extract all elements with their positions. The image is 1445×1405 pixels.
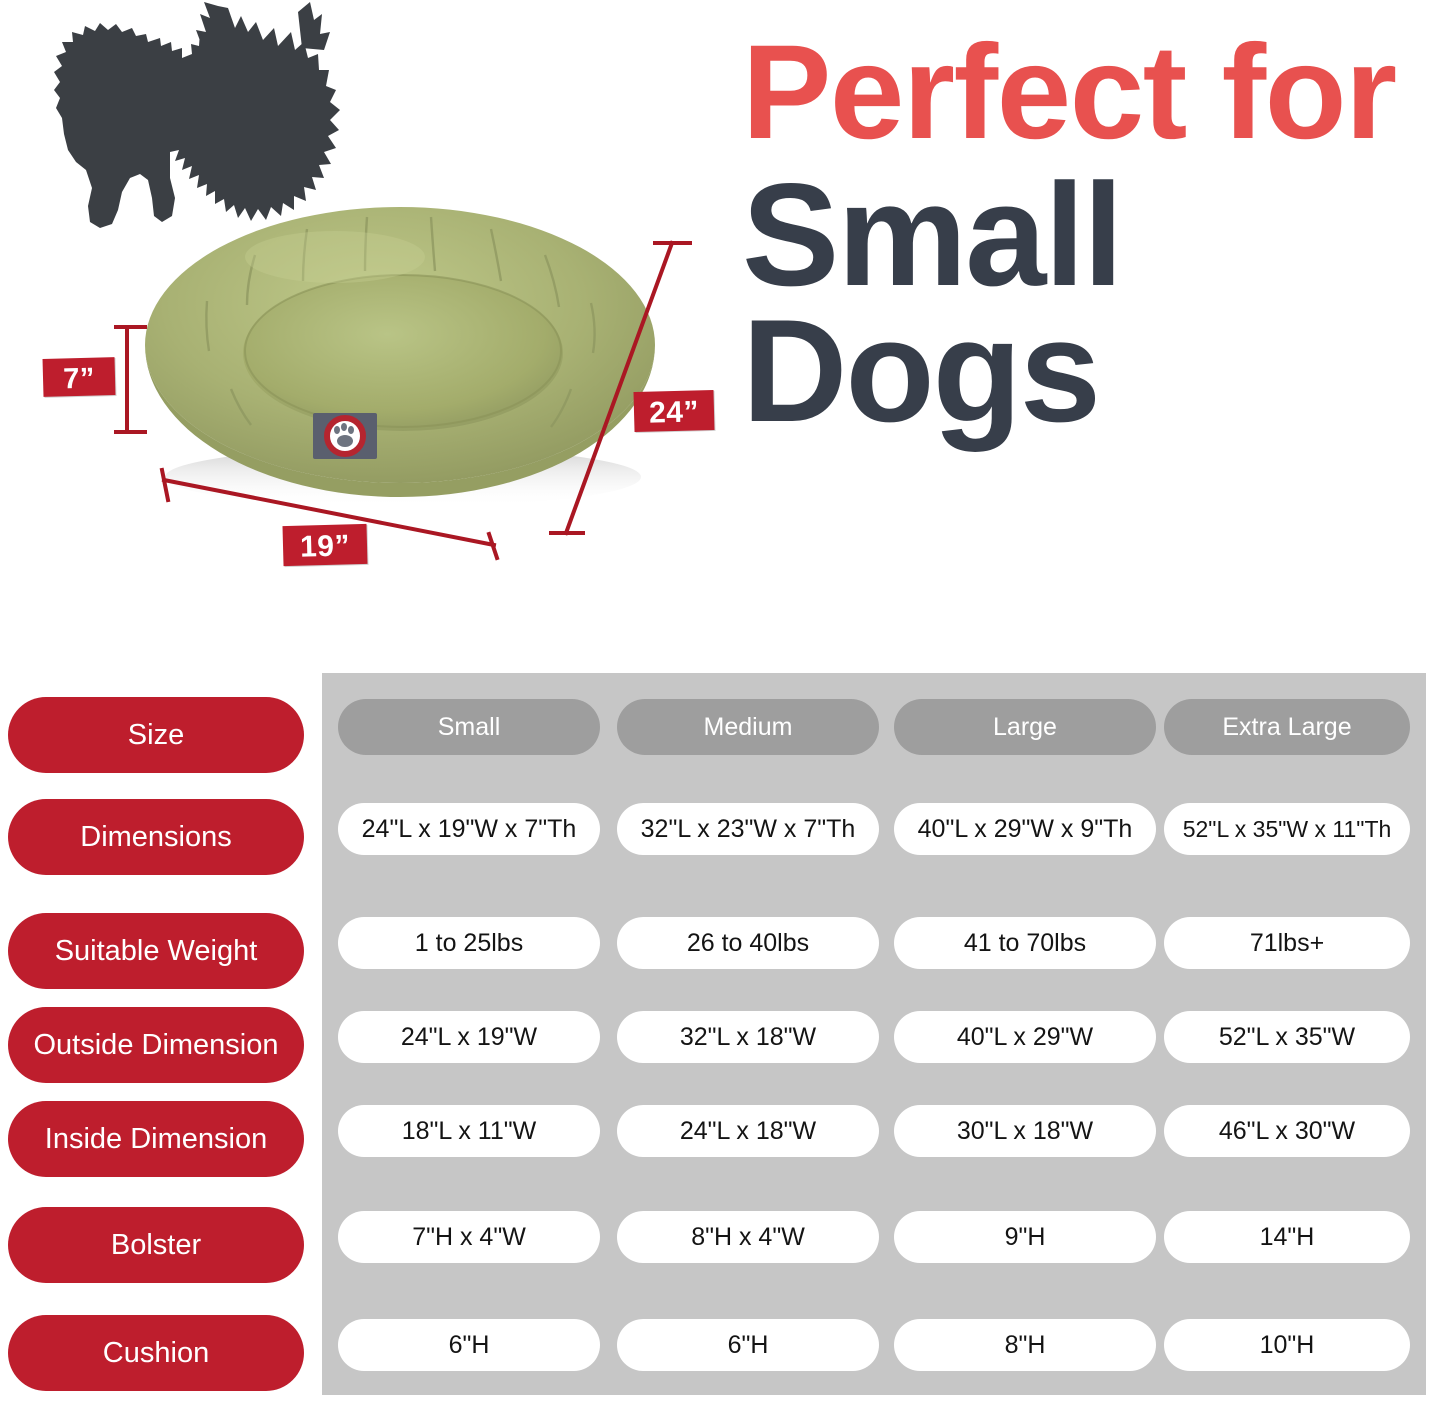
row-label-dimensions: Dimensions: [8, 799, 304, 875]
spec-table-panel: SmallMediumLargeExtra Large24"L x 19"W x…: [322, 673, 1426, 1395]
row-label-size: Size: [8, 697, 304, 773]
callout-badge-length: 24”: [633, 390, 714, 432]
row-label-inside-dimension: Inside Dimension: [8, 1101, 304, 1177]
size-spec-table: SmallMediumLargeExtra Large24"L x 19"W x…: [0, 665, 1445, 1405]
table-cell: 32"L x 18"W: [617, 1011, 879, 1063]
table-cell: 18"L x 11"W: [338, 1105, 600, 1157]
table-cell: 41 to 70lbs: [894, 917, 1156, 969]
headline-block: Perfect for Small Dogs: [742, 28, 1442, 441]
table-cell: 1 to 25lbs: [338, 917, 600, 969]
callout-badge-height: 7”: [43, 357, 116, 397]
spec-table-row-labels: SizeDimensionsSuitable WeightOutside Dim…: [8, 673, 304, 1395]
row-label-cushion: Cushion: [8, 1315, 304, 1391]
row-label-bolster: Bolster: [8, 1207, 304, 1283]
table-cell: 24"L x 18"W: [617, 1105, 879, 1157]
table-cell: 10"H: [1164, 1319, 1410, 1371]
column-header-medium: Medium: [617, 699, 879, 755]
table-cell: 40"L x 29"W x 9"Th: [894, 803, 1156, 855]
table-cell: 24"L x 19"W x 7"Th: [338, 803, 600, 855]
table-cell: 30"L x 18"W: [894, 1105, 1156, 1157]
table-cell: 6"H: [338, 1319, 600, 1371]
column-header-small: Small: [338, 699, 600, 755]
row-label-suitable-weight: Suitable Weight: [8, 913, 304, 989]
row-label-outside-dimension: Outside Dimension: [8, 1007, 304, 1083]
table-cell: 52"L x 35"W x 11"Th: [1164, 803, 1410, 855]
table-cell: 52"L x 35"W: [1164, 1011, 1410, 1063]
table-cell: 26 to 40lbs: [617, 917, 879, 969]
table-cell: 14"H: [1164, 1211, 1410, 1263]
callout-badge-width: 19”: [282, 524, 367, 566]
product-image-dog-bed: [135, 185, 665, 525]
table-cell: 6"H: [617, 1319, 879, 1371]
table-cell: 71lbs+: [1164, 917, 1410, 969]
brand-logo-patch: [313, 413, 377, 459]
table-cell: 46"L x 30"W: [1164, 1105, 1410, 1157]
headline-line-dogs: Dogs: [742, 300, 1442, 442]
hero-section: 7” 19” 24” Perfect for Small Dogs: [0, 0, 1445, 660]
table-cell: 8"H x 4"W: [617, 1211, 879, 1263]
table-cell: 8"H: [894, 1319, 1156, 1371]
headline-line-small: Small: [742, 164, 1442, 306]
headline-line-perfect-for: Perfect for: [742, 28, 1442, 158]
table-cell: 32"L x 23"W x 7"Th: [617, 803, 879, 855]
table-cell: 24"L x 19"W: [338, 1011, 600, 1063]
table-cell: 40"L x 29"W: [894, 1011, 1156, 1063]
column-header-extra-large: Extra Large: [1164, 699, 1410, 755]
column-header-large: Large: [894, 699, 1156, 755]
table-cell: 7"H x 4"W: [338, 1211, 600, 1263]
table-cell: 9"H: [894, 1211, 1156, 1263]
